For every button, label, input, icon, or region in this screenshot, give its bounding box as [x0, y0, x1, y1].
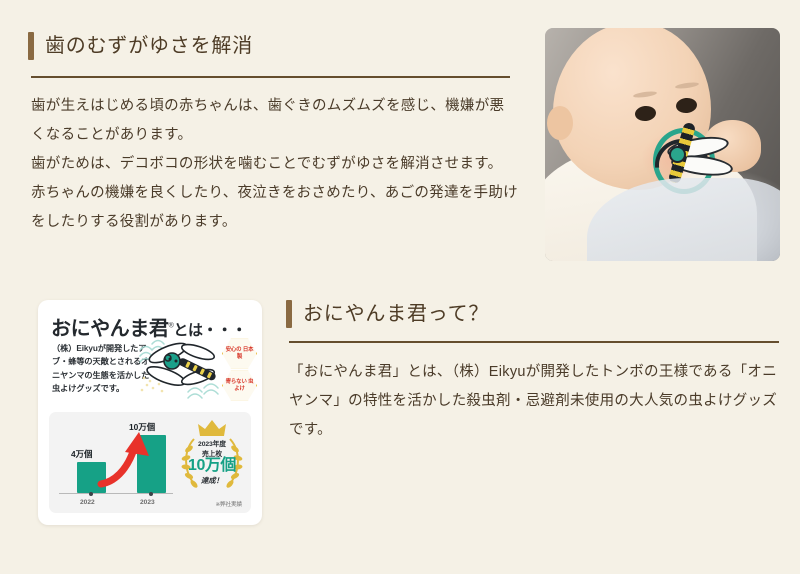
body-copy-teething: 歯が生えはじめる頃の赤ちゃんは、歯ぐきのムズムズを感じ、機嫌が悪くなることがあり…: [31, 92, 519, 237]
paragraph: 赤ちゃんの機嫌を良くしたり、夜泣きをおさめたり、あごの発達を手助けをしたりする役…: [31, 179, 519, 237]
seal-text-stack: 2023年度 売上枚 10万個 達成！: [177, 417, 247, 497]
axis-tick-2023: [149, 492, 153, 496]
seal-amount-value: 10万個: [188, 458, 236, 475]
dragonfly-illustration-icon: [142, 336, 228, 404]
infographic-lead-text: （株）Eikyuが開発したアブ・蜂等の天敵とされるオニヤンマの生態を活かした虫よ…: [52, 342, 150, 395]
section-heading-onyanma: おにやんま君って？: [286, 300, 489, 328]
section-title-onyanma: おにやんま君って？: [303, 304, 489, 324]
heading-accent-bar-icon: [28, 32, 34, 60]
axis-label-2023: 2023: [140, 499, 155, 506]
onyanma-infographic-card: おにやんま君®とは・・・ （株）Eikyuが開発したアブ・蜂等の天敵とされるオニ…: [38, 300, 262, 525]
section-heading-teething: 歯のむずがゆさを解消: [28, 32, 253, 60]
hex-badge-repel-label: 寄らない 虫よけ: [223, 379, 256, 393]
bar-value-label-2022: 4万個: [71, 448, 92, 460]
heading-divider-teething: [31, 76, 510, 78]
page-title: 歯のむずがゆさを解消: [45, 36, 253, 56]
axis-tick-2022: [89, 492, 93, 496]
paragraph: 歯が生えはじめる頃の赤ちゃんは、歯ぐきのムズムズを感じ、機嫌が悪くなることがあり…: [31, 92, 519, 150]
hex-badge-safe-label: 安心の 日本製: [223, 347, 256, 361]
seal-year-label: 2023年度: [198, 438, 226, 448]
photo-teether-eye: [669, 146, 686, 163]
chart-x-axis: [59, 493, 173, 494]
heading-accent-bar-icon: [286, 300, 292, 328]
growth-arrow-icon: [97, 430, 159, 492]
paragraph: 歯がためは、デコボコの形状を噛むことでむずがゆさを解消させます。: [31, 150, 519, 179]
paragraph: 「おにやんま君」とは、（株）Eikyuが開発したトンボの王様である「オニヤンマ」…: [289, 358, 781, 445]
heading-divider-onyanma: [289, 341, 779, 343]
axis-label-2022: 2022: [80, 499, 95, 506]
photo-baby-ear: [547, 106, 573, 140]
chart-footnote: ※弊社実績: [215, 500, 242, 508]
page-root: 歯のむずがゆさを解消 歯が生えはじめる頃の赤ちゃんは、歯ぐきのムズムズを感じ、機…: [0, 0, 800, 574]
baby-teether-photo: [545, 28, 780, 261]
sales-bar-chart: 4万個 10万個 2022 2023: [55, 416, 175, 508]
body-copy-onyanma: 「おにやんま君」とは、（株）Eikyuが開発したトンボの王様である「オニヤンマ」…: [289, 358, 781, 445]
sales-award-seal: 2023年度 売上枚 10万個 達成！: [177, 417, 247, 497]
seal-achieved-label: 達成！: [201, 475, 223, 486]
sales-chart-panel: 4万個 10万個 2022 2023: [49, 412, 251, 513]
